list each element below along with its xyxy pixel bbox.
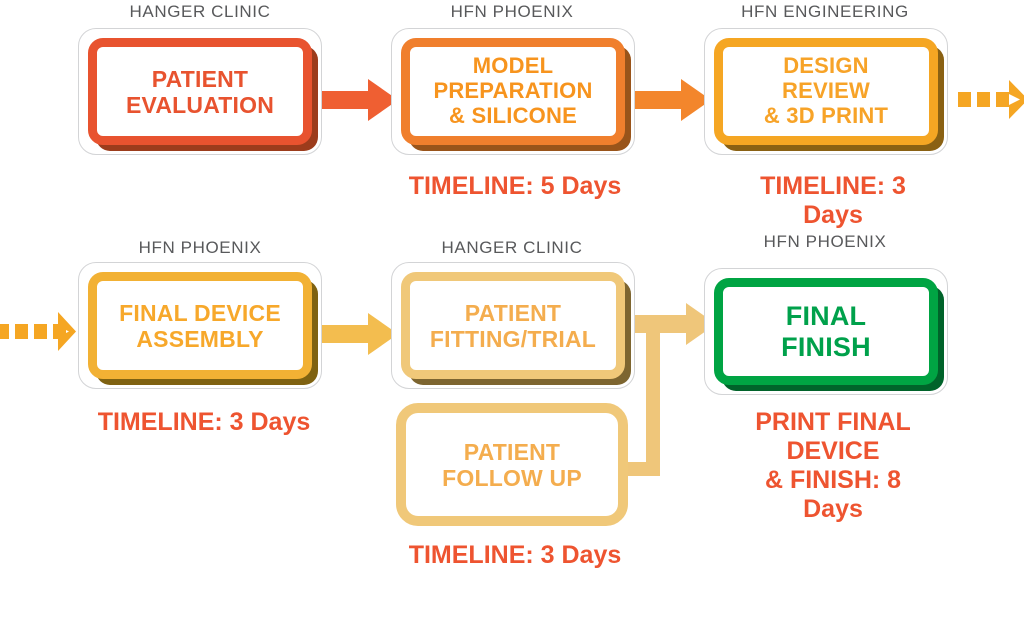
- node-label: FINAL FINISH: [777, 301, 875, 362]
- node-ring: DESIGN REVIEW & 3D PRINT: [714, 38, 938, 145]
- node-patient-fitting-trial[interactable]: PATIENT FITTING/TRIAL: [391, 262, 635, 389]
- node-label: PATIENT EVALUATION: [122, 66, 278, 118]
- node-patient-evaluation[interactable]: PATIENT EVALUATION: [78, 28, 322, 155]
- header-hfn-phoenix-3: HFN PHOENIX: [764, 232, 887, 252]
- node-ring: PATIENT EVALUATION: [88, 38, 312, 145]
- arrow-assembly-to-fitting: [316, 310, 400, 358]
- arrow-model-to-design: [629, 76, 713, 124]
- node-ring: PATIENT FOLLOW UP: [396, 403, 628, 526]
- node-label: PATIENT FITTING/TRIAL: [426, 300, 600, 352]
- arrow-eval-to-model: [316, 76, 400, 124]
- node-ring: MODEL PREPARATION & SILICONE: [401, 38, 625, 145]
- header-hfn-phoenix-2: HFN PHOENIX: [139, 238, 262, 258]
- node-ring: FINAL FINISH: [714, 278, 938, 385]
- arrow-continue-to-assembly: [0, 310, 76, 354]
- node-patient-follow-up[interactable]: PATIENT FOLLOW UP: [396, 403, 628, 526]
- node-ring: PATIENT FITTING/TRIAL: [401, 272, 625, 379]
- timeline-final-assembly: TIMELINE: 3 Days: [98, 408, 311, 437]
- timeline-final-finish: PRINT FINAL DEVICE & FINISH: 8 Days: [738, 408, 929, 524]
- node-final-finish[interactable]: FINAL FINISH: [704, 268, 948, 395]
- node-final-device-assembly[interactable]: FINAL DEVICE ASSEMBLY: [78, 262, 322, 389]
- header-hfn-phoenix-1: HFN PHOENIX: [451, 2, 574, 22]
- timeline-patient-follow-up: TIMELINE: 3 Days: [409, 541, 622, 570]
- node-ring: FINAL DEVICE ASSEMBLY: [88, 272, 312, 379]
- header-hanger-clinic-2: HANGER CLINIC: [442, 238, 583, 258]
- node-label: MODEL PREPARATION & SILICONE: [429, 54, 596, 129]
- header-hfn-engineering: HFN ENGINEERING: [741, 2, 909, 22]
- workflow-diagram: HANGER CLINIC HFN PHOENIX HFN ENGINEERIN…: [0, 0, 1024, 617]
- timeline-model-prep: TIMELINE: 5 Days: [409, 172, 622, 201]
- node-label: DESIGN REVIEW & 3D PRINT: [760, 54, 892, 129]
- timeline-design-review: TIMELINE: 3 Days: [738, 172, 929, 230]
- header-hanger-clinic-1: HANGER CLINIC: [130, 2, 271, 22]
- node-design-review-3d-print[interactable]: DESIGN REVIEW & 3D PRINT: [704, 28, 948, 155]
- node-label: PATIENT FOLLOW UP: [438, 439, 586, 491]
- node-label: FINAL DEVICE ASSEMBLY: [115, 300, 285, 352]
- node-model-preparation-silicone[interactable]: MODEL PREPARATION & SILICONE: [391, 28, 635, 155]
- arrow-design-to-continue: [958, 78, 1024, 122]
